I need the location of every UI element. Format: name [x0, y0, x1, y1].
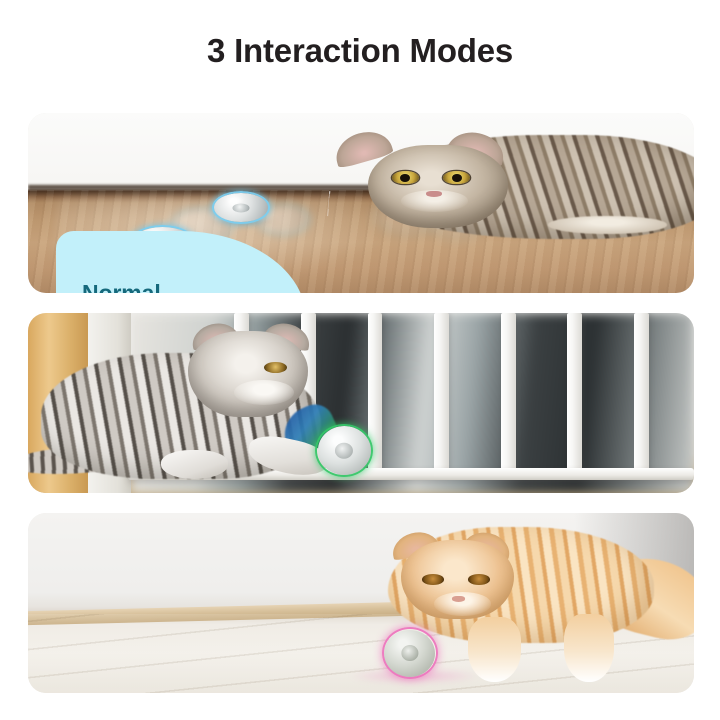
mode-card-normal: Normal Active rolling & bouncing for ene…	[28, 113, 694, 293]
cat-muzzle	[234, 380, 294, 405]
gate-bar	[634, 313, 649, 475]
cat-eye-right	[468, 574, 490, 584]
smart-ball-toy	[318, 426, 371, 475]
gate-bar	[434, 313, 449, 475]
cat-head	[188, 331, 308, 417]
mode-card-passive: Passive Bouncing on contact for active h…	[28, 313, 694, 493]
cat-eye-left	[422, 574, 444, 584]
cat-paws	[548, 216, 668, 234]
mode-card-gentle: Gentle slow rolling, or shaking on conta…	[28, 513, 694, 693]
gate-bar	[501, 313, 516, 475]
ball-button	[335, 442, 353, 459]
cat-paw-back	[161, 450, 228, 479]
mode-photo-passive	[28, 313, 694, 493]
gate-bar	[567, 313, 582, 475]
interaction-modes-infographic: 3 Interaction Modes	[0, 0, 720, 720]
ball-button	[401, 645, 418, 661]
mode-name: Normal	[82, 280, 286, 294]
cat-leg-back	[564, 614, 614, 682]
mode-photo-gentle	[28, 513, 694, 693]
cat-nose	[452, 596, 465, 602]
smart-ball-toy	[384, 630, 435, 677]
cat-eye	[264, 362, 287, 373]
smart-ball-toy	[214, 193, 267, 221]
page-title: 3 Interaction Modes	[0, 31, 720, 71]
